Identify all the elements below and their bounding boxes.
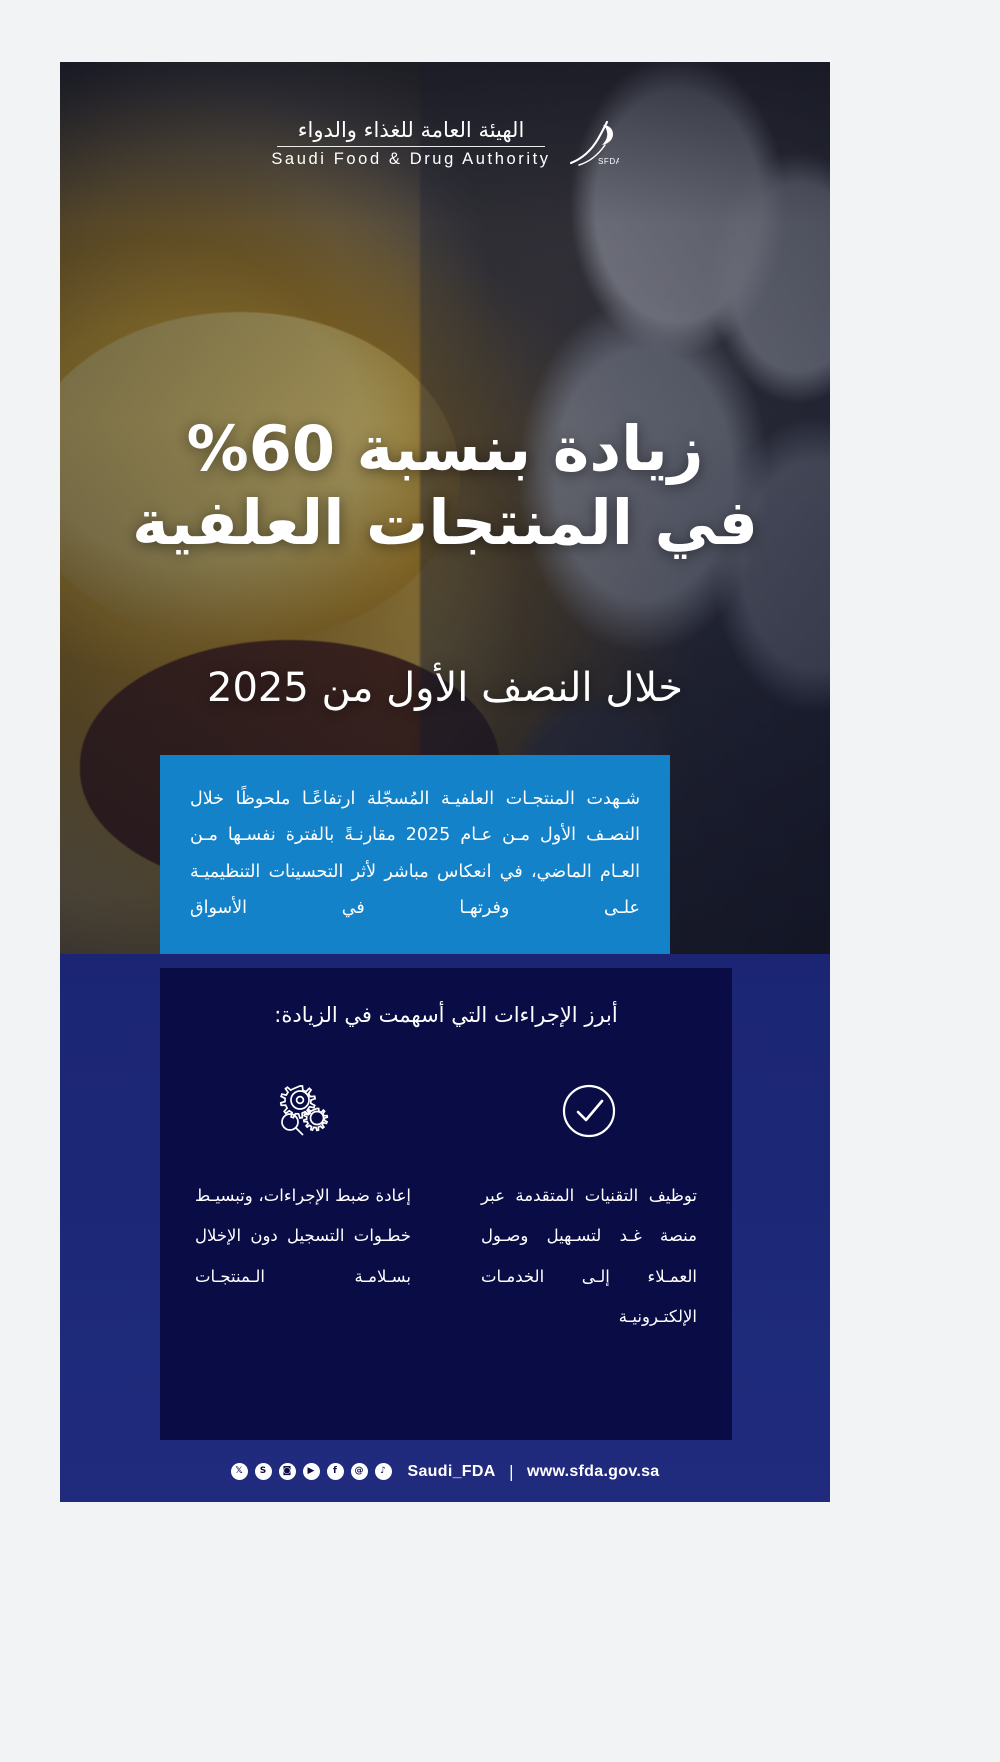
infographic-poster: الهيئة العامة للغذاء والدواء Saudi Food …: [60, 62, 830, 1502]
threads-icon[interactable]: @: [351, 1463, 368, 1480]
measure-item-1-text: توظيف التقنيات المتقدمة عبر منصة غـد لتس…: [481, 1176, 697, 1338]
measure-item-2: إعادة ضبط الإجراءات، وتبسيـط خطـوات التس…: [160, 1072, 446, 1338]
headline: زيادة بنسبة 60% في المنتجات العلفية: [60, 412, 830, 561]
facebook-icon[interactable]: f: [327, 1463, 344, 1480]
youtube-icon[interactable]: ▶: [303, 1463, 320, 1480]
check-circle-icon: [558, 1072, 620, 1150]
headline-line-2: في المنتجات العلفية: [60, 486, 830, 560]
logo-divider-rule: [277, 146, 545, 147]
measures-columns: توظيف التقنيات المتقدمة عبر منصة غـد لتس…: [160, 1072, 732, 1338]
logo-english-name: Saudi Food & Drug Authority: [271, 150, 550, 169]
sfda-emblem-icon: SFDA: [565, 119, 619, 169]
summary-callout-box: شـهدت المنتجـات العلفيـة المُسجّلة ارتفا…: [160, 755, 670, 955]
sfda-logo-lockup: الهيئة العامة للغذاء والدواء Saudi Food …: [60, 118, 830, 169]
measure-item-1: توظيف التقنيات المتقدمة عبر منصة غـد لتس…: [446, 1072, 732, 1338]
svg-text:SFDA: SFDA: [598, 157, 619, 166]
logo-arabic-name: الهيئة العامة للغذاء والدواء: [298, 118, 525, 142]
footer-social-bar: 𝕏 S ◙ ▶ f @ ♪ Saudi_FDA | www.sfda.gov.s…: [60, 1462, 830, 1481]
footer-divider: |: [509, 1462, 514, 1481]
website-url[interactable]: www.sfda.gov.sa: [527, 1463, 660, 1481]
subheadline: خلال النصف الأول من 2025: [60, 662, 830, 714]
logo-text-block: الهيئة العامة للغذاء والدواء Saudi Food …: [271, 118, 550, 169]
gears-magnifier-icon: [268, 1072, 338, 1150]
measure-item-2-text: إعادة ضبط الإجراءات، وتبسيـط خطـوات التس…: [195, 1176, 411, 1297]
x-twitter-icon[interactable]: 𝕏: [231, 1463, 248, 1480]
headline-line-1: زيادة بنسبة 60%: [60, 412, 830, 486]
summary-callout-text: شـهدت المنتجـات العلفيـة المُسجّلة ارتفا…: [190, 781, 640, 927]
instagram-icon[interactable]: ◙: [279, 1463, 296, 1480]
snapchat-icon[interactable]: S: [255, 1463, 272, 1480]
social-handle: Saudi_FDA: [408, 1463, 496, 1481]
measures-title: أبرز الإجراءات التي أسهمت في الزيادة:: [160, 1000, 732, 1032]
tiktok-icon[interactable]: ♪: [375, 1463, 392, 1480]
